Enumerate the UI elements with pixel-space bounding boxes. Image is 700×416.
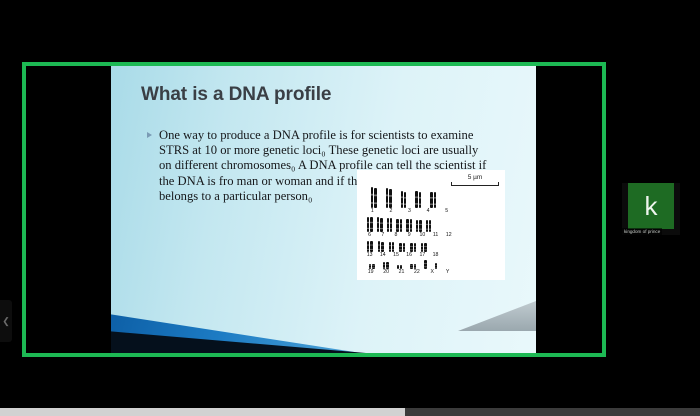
- shared-screen-content: What is a DNA profile One way to produce…: [26, 66, 602, 353]
- chromosome-label: X: [425, 269, 440, 275]
- chromosome-label: 18: [429, 252, 442, 258]
- karyotype-row: 1 2 3 4 5: [363, 186, 499, 214]
- chromosome-label: 3: [400, 208, 419, 214]
- chromosome-label: 1: [363, 208, 382, 214]
- chromosome-label: 14: [376, 252, 389, 258]
- chromosome-label: 20: [378, 269, 393, 275]
- avatar: k: [628, 183, 674, 229]
- chromosome-pair-group: [363, 239, 499, 252]
- chromosome-label: 11: [429, 232, 442, 238]
- panel-collapse-button[interactable]: ❮: [0, 300, 12, 342]
- participant-tile[interactable]: k kingdom of prince: [622, 183, 680, 235]
- horizontal-scrollbar-thumb[interactable]: [0, 408, 405, 416]
- chromosome-label: 10: [416, 232, 429, 238]
- karyotype-row-labels: 1 2 3 4 5: [363, 208, 499, 214]
- chromosome-pair-group: [363, 186, 499, 208]
- chromosome-pair-group: [363, 215, 499, 232]
- karyotype-row: 6 7 8 9 10 11 12: [363, 215, 499, 238]
- karyotype-row: 19 20 21 22 X Y: [363, 259, 499, 275]
- chromosome-label: 5: [437, 208, 456, 214]
- chromosome-label: Y: [440, 269, 455, 275]
- chromosome-label: 19: [363, 269, 378, 275]
- scale-bar: 5 µm: [363, 174, 499, 185]
- chromosome-label: 12: [442, 232, 455, 238]
- shared-screen-frame[interactable]: What is a DNA profile One way to produce…: [22, 62, 606, 357]
- chromosome-label: 15: [389, 252, 402, 258]
- chromosome-label: 22: [409, 269, 424, 275]
- karyotype-row-labels: 19 20 21 22 X Y: [363, 269, 499, 275]
- scale-bar-label: 5 µm: [451, 174, 499, 182]
- avatar-initial: k: [645, 193, 658, 219]
- chromosome-label: 6: [363, 232, 376, 238]
- presentation-slide: What is a DNA profile One way to produce…: [111, 66, 536, 353]
- chromosome-pair-group: [363, 259, 499, 269]
- slide-title: What is a DNA profile: [141, 84, 331, 106]
- chromosome-label: 9: [403, 232, 416, 238]
- chromosome-label: 17: [416, 252, 429, 258]
- karyotype-row-labels: 6 7 8 9 10 11 12: [363, 232, 499, 238]
- karyotype-image: 5 µm 1: [357, 170, 505, 280]
- chromosome-label: 16: [403, 252, 416, 258]
- chromosome-label: 13: [363, 252, 376, 258]
- horizontal-scrollbar-track[interactable]: [0, 408, 700, 416]
- slide-decoration-gray-wedge: [458, 301, 536, 331]
- participant-name-label: kingdom of prince: [622, 228, 662, 235]
- chromosome-label: 7: [376, 232, 389, 238]
- chromosome-label: 2: [382, 208, 401, 214]
- chromosome-label: 8: [389, 232, 402, 238]
- chromosome-label: 21: [394, 269, 409, 275]
- triangle-bullet-icon: [147, 132, 152, 138]
- chromosome-label: 4: [419, 208, 438, 214]
- chevron-left-icon: ❮: [2, 317, 10, 326]
- karyotype-row-labels: 13 14 15 16 17 18: [363, 252, 499, 258]
- meeting-stage: ❮ What is a DNA profile One way to produ…: [0, 0, 700, 416]
- karyotype-row: 13 14 15 16 17 18: [363, 239, 499, 258]
